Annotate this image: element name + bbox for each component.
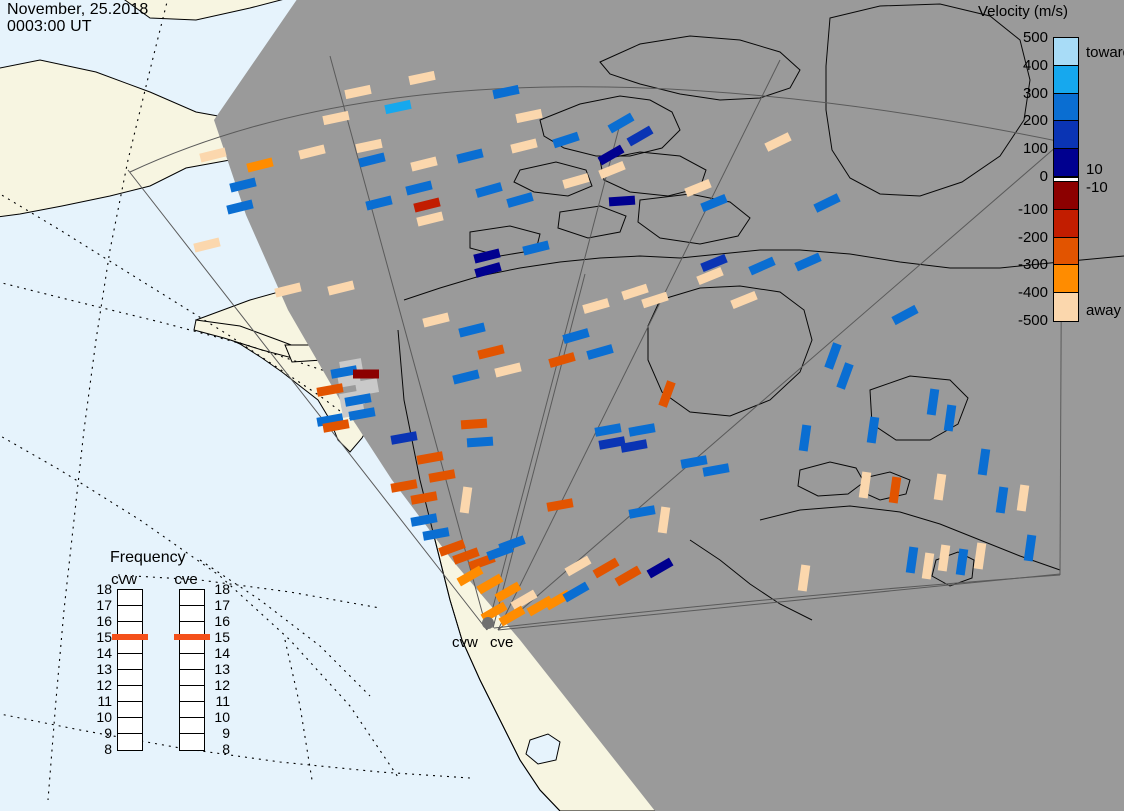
colorbar-tick--300: -300 bbox=[982, 256, 1048, 273]
frequency-scale-label-right-11: 11 bbox=[208, 693, 230, 709]
frequency-scale-label-left-15: 15 bbox=[90, 629, 112, 645]
frequency-cell bbox=[118, 734, 142, 750]
frequency-scale-label-right-18: 18 bbox=[208, 581, 230, 597]
timestamp-date: November, 25.2018 bbox=[7, 1, 148, 18]
frequency-col-head-cve: cve bbox=[166, 571, 206, 588]
frequency-cell bbox=[180, 654, 204, 670]
frequency-scale-label-left-11: 11 bbox=[90, 693, 112, 709]
frequency-cell bbox=[118, 718, 142, 734]
colorbar-segment-3 bbox=[1054, 121, 1078, 149]
colorbar-tick--400: -400 bbox=[982, 284, 1048, 301]
colorbar-away-label: away bbox=[1086, 302, 1121, 319]
timestamp-block: November, 25.20180003:00 UT bbox=[7, 1, 148, 35]
frequency-scale-label-right-8: 8 bbox=[208, 741, 230, 757]
frequency-cell bbox=[180, 702, 204, 718]
colorbar-segment-4 bbox=[1054, 149, 1078, 177]
colorbar-tick-0: 0 bbox=[982, 168, 1048, 185]
frequency-scale-label-left-13: 13 bbox=[90, 661, 112, 677]
frequency-column-cvw[interactable] bbox=[117, 589, 143, 751]
frequency-cell bbox=[118, 686, 142, 702]
frequency-scale-label-left-10: 10 bbox=[90, 709, 112, 725]
frequency-scale-label-right-16: 16 bbox=[208, 613, 230, 629]
frequency-scale-label-left-17: 17 bbox=[90, 597, 112, 613]
frequency-cell bbox=[118, 670, 142, 686]
colorbar-segment-0 bbox=[1054, 38, 1078, 66]
frequency-scale-label-right-14: 14 bbox=[208, 645, 230, 661]
velocity-colorbar[interactable] bbox=[1053, 37, 1079, 322]
frequency-cell bbox=[180, 638, 204, 654]
colorbar-tick-400: 400 bbox=[982, 57, 1048, 74]
frequency-legend-title: Frequency bbox=[110, 549, 186, 567]
frequency-scale-label-right-15: 15 bbox=[208, 629, 230, 645]
colorbar-segment-8 bbox=[1054, 238, 1078, 266]
velocity-bar bbox=[609, 196, 636, 207]
frequency-cell bbox=[180, 734, 204, 750]
frequency-scale-label-right-13: 13 bbox=[208, 661, 230, 677]
radar-site-marker bbox=[482, 617, 494, 629]
colorbar-segment-2 bbox=[1054, 94, 1078, 122]
frequency-scale-label-left-8: 8 bbox=[90, 741, 112, 757]
frequency-cell bbox=[180, 670, 204, 686]
colorbar-tick--500: -500 bbox=[982, 312, 1048, 329]
colorbar-tick-100: 100 bbox=[982, 140, 1048, 157]
frequency-scale-label-right-12: 12 bbox=[208, 677, 230, 693]
colorbar-segment-7 bbox=[1054, 210, 1078, 238]
frequency-cell bbox=[180, 686, 204, 702]
frequency-column-cve[interactable] bbox=[179, 589, 205, 751]
frequency-cell bbox=[118, 590, 142, 606]
colorbar-tick-500: 500 bbox=[982, 29, 1048, 46]
colorbar-tick--200: -200 bbox=[982, 229, 1048, 246]
velocity-bar bbox=[461, 419, 488, 430]
colorbar-segment-1 bbox=[1054, 66, 1078, 94]
frequency-cell bbox=[118, 606, 142, 622]
colorbar-title: Velocity (m/s) bbox=[978, 3, 1068, 20]
frequency-cell bbox=[180, 606, 204, 622]
colorbar-tick-200: 200 bbox=[982, 112, 1048, 129]
frequency-marker-cvw bbox=[112, 634, 148, 640]
colorbar-neg-threshold-label: -10 bbox=[1086, 179, 1108, 196]
colorbar-tick-300: 300 bbox=[982, 85, 1048, 102]
frequency-scale-label-right-10: 10 bbox=[208, 709, 230, 725]
frequency-scale-label-left-12: 12 bbox=[90, 677, 112, 693]
velocity-map-figure: November, 25.20180003:00 UT Velocity (m/… bbox=[0, 0, 1124, 811]
frequency-cell bbox=[118, 638, 142, 654]
velocity-bar bbox=[353, 370, 379, 379]
frequency-scale-label-left-18: 18 bbox=[90, 581, 112, 597]
colorbar-tick--100: -100 bbox=[982, 201, 1048, 218]
site-label-cve: cve bbox=[490, 634, 513, 651]
frequency-scale-label-right-9: 9 bbox=[208, 725, 230, 741]
frequency-cell bbox=[180, 590, 204, 606]
frequency-scale-label-left-9: 9 bbox=[90, 725, 112, 741]
frequency-scale-label-left-16: 16 bbox=[90, 613, 112, 629]
frequency-scale-label-left-14: 14 bbox=[90, 645, 112, 661]
colorbar-segment-6 bbox=[1054, 182, 1078, 210]
velocity-bar bbox=[467, 437, 494, 448]
frequency-cell bbox=[118, 654, 142, 670]
colorbar-toward-label: toward bbox=[1086, 44, 1124, 61]
frequency-marker-cve bbox=[174, 634, 210, 640]
frequency-cell bbox=[180, 718, 204, 734]
colorbar-segment-10 bbox=[1054, 293, 1078, 321]
frequency-cell bbox=[118, 702, 142, 718]
frequency-scale-label-right-17: 17 bbox=[208, 597, 230, 613]
site-label-cvw: cvw bbox=[452, 634, 478, 651]
colorbar-pos-threshold-label: 10 bbox=[1086, 161, 1103, 178]
timestamp-time: 0003:00 UT bbox=[7, 18, 92, 35]
colorbar-segment-9 bbox=[1054, 265, 1078, 293]
map-canvas bbox=[0, 0, 1124, 811]
